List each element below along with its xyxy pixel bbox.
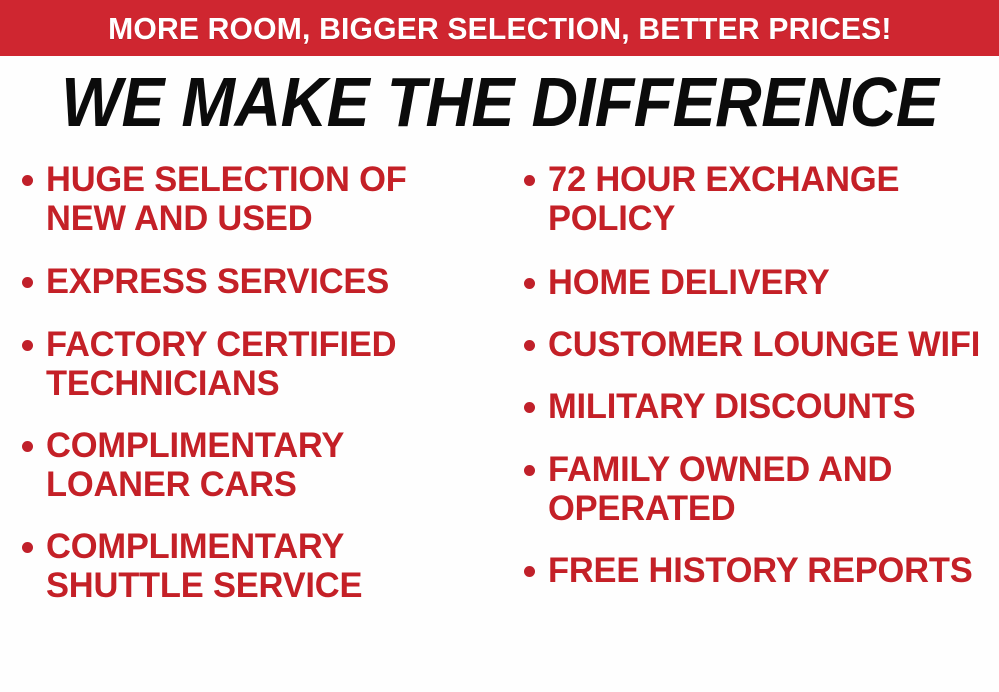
list-item-label: HOME DELIVERY xyxy=(548,263,830,302)
list-item-label: COMPLIMENTARY LOANER CARS xyxy=(46,426,493,504)
list-item-label: FREE HISTORY REPORTS xyxy=(548,551,973,590)
list-item: 72 HOUR EXCHANGE POLICY xyxy=(512,160,999,238)
bullet-dot-icon xyxy=(22,340,33,351)
list-item: HUGE SELECTION OF NEW AND USED xyxy=(8,160,500,238)
bullet-dot-icon xyxy=(22,175,33,186)
list-item: CUSTOMER LOUNGE WIFI xyxy=(512,325,999,364)
list-item-label: CUSTOMER LOUNGE WIFI xyxy=(548,325,980,364)
bullet-dot-icon xyxy=(524,340,535,351)
top-banner-text: MORE ROOM, BIGGER SELECTION, BETTER PRIC… xyxy=(108,13,892,44)
benefits-columns: HUGE SELECTION OF NEW AND USED EXPRESS S… xyxy=(0,160,999,692)
top-banner: MORE ROOM, BIGGER SELECTION, BETTER PRIC… xyxy=(0,0,999,56)
list-item-label: FACTORY CERTIFIED TECHNICIANS xyxy=(46,325,493,403)
bullet-dot-icon xyxy=(22,542,33,553)
promo-flyer: { "banner": { "text": "MORE ROOM, BIGGER… xyxy=(0,0,999,692)
list-item-label: MILITARY DISCOUNTS xyxy=(548,387,915,426)
bullet-dot-icon xyxy=(524,175,535,186)
list-item: MILITARY DISCOUNTS xyxy=(512,387,999,426)
bullet-dot-icon xyxy=(524,278,535,289)
list-item: COMPLIMENTARY LOANER CARS xyxy=(8,426,500,504)
list-item-label: FAMILY OWNED AND OPERATED xyxy=(548,450,992,528)
benefits-column-left: HUGE SELECTION OF NEW AND USED EXPRESS S… xyxy=(8,160,500,631)
list-item: EXPRESS SERVICES xyxy=(8,262,500,301)
list-item: COMPLIMENTARY SHUTTLE SERVICE xyxy=(8,527,500,605)
list-item-label: HUGE SELECTION OF NEW AND USED xyxy=(46,160,493,238)
bullet-dot-icon xyxy=(524,566,535,577)
benefits-column-right: 72 HOUR EXCHANGE POLICY HOME DELIVERY CU… xyxy=(512,160,999,616)
list-item: FREE HISTORY REPORTS xyxy=(512,551,999,590)
list-item-label: EXPRESS SERVICES xyxy=(46,262,389,301)
headline-container: WE MAKE THE DIFFERENCE xyxy=(0,62,999,142)
list-item-label: 72 HOUR EXCHANGE POLICY xyxy=(548,160,992,238)
bullet-dot-icon xyxy=(524,465,535,476)
bullet-dot-icon xyxy=(22,441,33,452)
page-title: WE MAKE THE DIFFERENCE xyxy=(61,67,938,137)
bullet-dot-icon xyxy=(22,277,33,288)
list-item: HOME DELIVERY xyxy=(512,263,999,302)
bullet-dot-icon xyxy=(524,402,535,413)
list-item: FAMILY OWNED AND OPERATED xyxy=(512,450,999,528)
list-item-label: COMPLIMENTARY SHUTTLE SERVICE xyxy=(46,527,493,605)
list-item: FACTORY CERTIFIED TECHNICIANS xyxy=(8,325,500,403)
